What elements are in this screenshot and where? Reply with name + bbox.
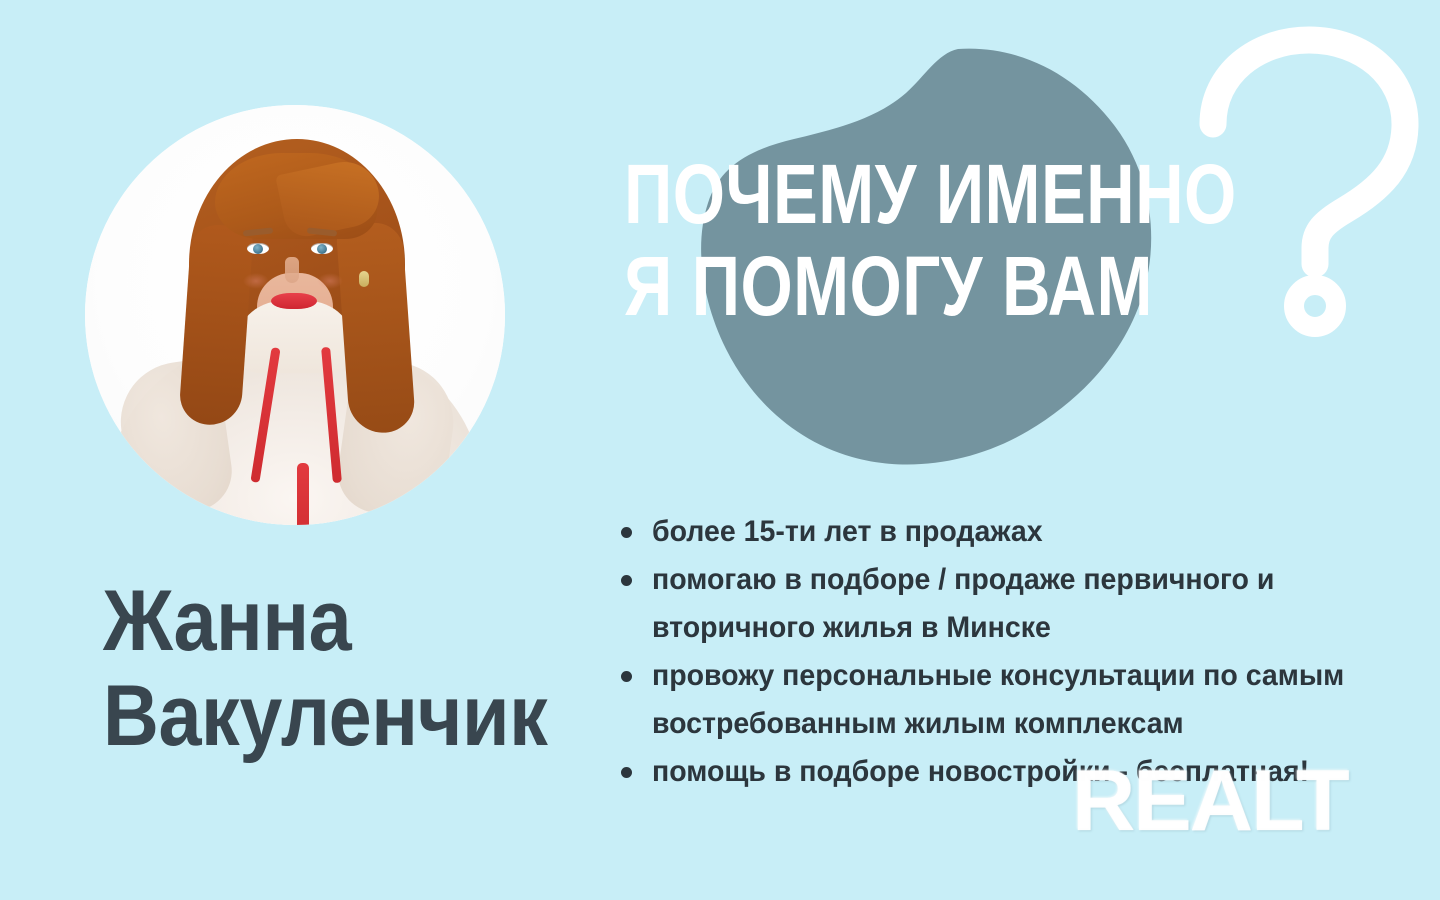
agent-first-name: Жанна [103,574,547,669]
bullet-dot-icon [621,767,632,778]
bullet-dot-icon [621,575,632,586]
agent-last-name: Вакуленчик [103,669,547,764]
nose [285,257,299,283]
question-mark-icon [1203,28,1433,328]
avatar [85,105,505,525]
headline-line-2: Я ПОМОГУ ВАМ [624,240,1184,332]
agent-name: Жанна Вакуленчик [103,574,547,764]
iris-right [317,244,327,254]
lips [271,293,317,309]
avatar-photo [85,105,505,525]
list-item-label: более 15-ти лет в продажах [652,508,1387,556]
bullet-dot-icon [621,527,632,538]
earring-right [359,271,369,287]
bullet-dot-icon [621,671,632,682]
list-item-label: помогаю в подборе / продаже первичного и… [652,556,1387,652]
list-item-label: провожу персональные консультации по сам… [652,652,1387,748]
headline-line-1: ПОЧЕМУ ИМЕННО [624,148,1184,240]
realt-watermark: REALT [1072,758,1348,844]
cheek-right [317,273,343,289]
page-title: ПОЧЕМУ ИМЕННО Я ПОМОГУ ВАМ [624,148,1184,332]
lanyard-tail [297,463,309,525]
list-item: более 15-ти лет в продажах [614,508,1426,556]
list-item: провожу персональные консультации по сам… [614,652,1426,748]
iris-left [253,244,263,254]
list-item: помогаю в подборе / продаже первичного и… [614,556,1426,652]
promo-banner: ПОЧЕМУ ИМЕННО Я ПОМОГУ ВАМ [0,0,1440,900]
cheek-left [243,273,269,289]
